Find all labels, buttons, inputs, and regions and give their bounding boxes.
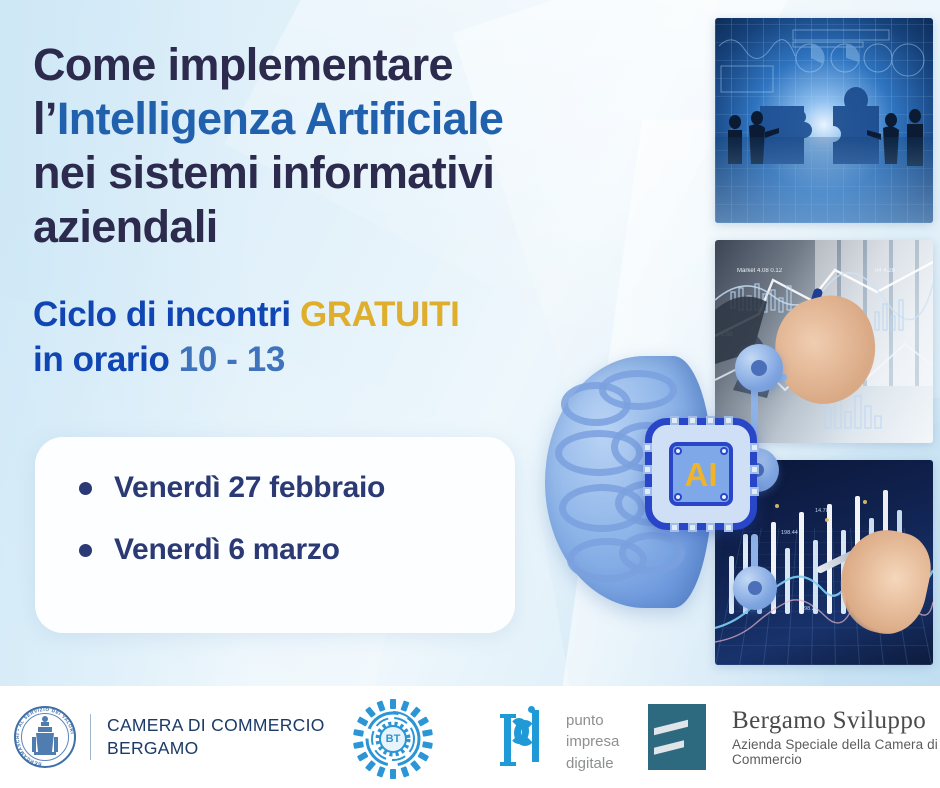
chip-pin xyxy=(688,416,697,425)
subtitle-line-2-prefix: in orario xyxy=(33,340,179,379)
pid-letter-d-bowl xyxy=(514,720,536,746)
chip-corner-dot xyxy=(720,493,728,501)
node-hole xyxy=(748,581,762,595)
poster: Come implementare l’Intelligenza Artific… xyxy=(0,0,940,788)
photo-1-floor xyxy=(715,137,933,223)
brain-fold xyxy=(619,532,685,574)
circuit-node xyxy=(733,566,777,610)
date-label: Venerdì 27 febbraio xyxy=(114,471,385,505)
chip-pin xyxy=(643,443,652,452)
chip-pin xyxy=(750,465,759,474)
chip-pin xyxy=(688,523,697,532)
headline: Come implementare l’Intelligenza Artific… xyxy=(33,38,693,254)
bergamo-sviluppo-subtitle: Azienda Speciale della Camera di Commerc… xyxy=(732,737,940,767)
date-label: Venerdì 6 marzo xyxy=(114,533,340,567)
camera-commercio-line-2: BERGAMO xyxy=(107,737,325,760)
logo-bergamo-sviluppo: Bergamo Sviluppo Azienda Speciale della … xyxy=(648,704,940,770)
ai-brain-graphic: AI xyxy=(545,338,795,628)
bt-core-label: BT xyxy=(379,725,407,753)
svg-text:04 4.28: 04 4.28 xyxy=(875,268,896,274)
camera-commercio-line-1: CAMERA DI COMMERCIO xyxy=(107,714,325,737)
chip-pin xyxy=(643,487,652,496)
chip-pin xyxy=(750,487,759,496)
headline-line-1: Come implementare xyxy=(33,38,693,92)
pid-wordmark: punto impresa digitale xyxy=(566,710,619,774)
bullet-icon xyxy=(79,544,92,557)
svg-text:198.27: 198.27 xyxy=(801,606,818,612)
headline-line-2-accent: Intelligenza Artificiale xyxy=(57,93,504,144)
headline-line-3: nei sistemi informativi xyxy=(33,146,693,200)
headline-line-2-prefix: l’ xyxy=(33,93,57,144)
photo-puzzle-teamwork xyxy=(715,18,933,223)
pid-monogram-icon xyxy=(498,706,554,768)
node-hole xyxy=(751,360,767,376)
chip-pin xyxy=(670,523,679,532)
chip-pin xyxy=(670,416,679,425)
pid-line-1: punto xyxy=(566,710,619,731)
svg-text:14.78: 14.78 xyxy=(815,508,829,514)
circuit-node xyxy=(735,344,783,392)
chip-corner-dot xyxy=(720,447,728,455)
bullet-icon xyxy=(79,482,92,495)
chip-pin xyxy=(643,465,652,474)
pid-dot xyxy=(528,706,535,713)
logo-bt-emblem: BT xyxy=(352,698,434,780)
seal-crest-artwork: BERGAMASCHI • AL SERVIZIO DEI VALORI xyxy=(14,706,76,768)
chip-corner-dot xyxy=(674,447,682,455)
chip-pin xyxy=(706,416,715,425)
list-item: Venerdì 27 febbraio xyxy=(79,471,515,505)
logo-camera-di-commercio-bergamo: BERGAMASCHI • AL SERVIZIO DEI VALORI CAM… xyxy=(14,706,325,768)
subtitle-free-badge: GRATUITI xyxy=(300,295,459,334)
chip-pin xyxy=(724,416,733,425)
logo-punto-impresa-digitale: punto impresa digitale xyxy=(498,706,619,774)
subtitle-time-range: 10 - 13 xyxy=(179,340,285,379)
dates-card: Venerdì 27 febbraio Venerdì 6 marzo xyxy=(35,437,515,633)
camera-commercio-wordmark: CAMERA DI COMMERCIO BERGAMO xyxy=(107,714,325,760)
chip-pin xyxy=(750,443,759,452)
chip-pin xyxy=(724,523,733,532)
brain-fold xyxy=(599,370,677,410)
bergamo-sviluppo-title: Bergamo Sviluppo xyxy=(732,707,940,735)
chip-pin xyxy=(706,523,715,532)
list-item: Venerdì 6 marzo xyxy=(79,533,515,567)
pid-line-3: digitale xyxy=(566,753,619,774)
pid-line-2: impresa xyxy=(566,731,619,752)
subtitle-line-1: Ciclo di incontri GRATUITI xyxy=(33,293,673,338)
svg-text:Market 4.08 0.12: Market 4.08 0.12 xyxy=(737,268,783,274)
logo-divider xyxy=(90,714,91,760)
chip-corner-dot xyxy=(674,493,682,501)
subtitle-line-1-prefix: Ciclo di incontri xyxy=(33,295,300,334)
bergamo-sviluppo-wordmark: Bergamo Sviluppo Azienda Speciale della … xyxy=(732,707,940,767)
ai-chip-icon: AI xyxy=(645,418,757,530)
bergamo-sviluppo-arrow-icon xyxy=(648,704,720,770)
camera-commercio-seal-icon: BERGAMASCHI • AL SERVIZIO DEI VALORI xyxy=(14,706,76,768)
headline-line-2: l’Intelligenza Artificiale xyxy=(33,92,693,146)
chip-ai-label: AI xyxy=(685,458,718,491)
headline-line-4: aziendali xyxy=(33,200,693,254)
